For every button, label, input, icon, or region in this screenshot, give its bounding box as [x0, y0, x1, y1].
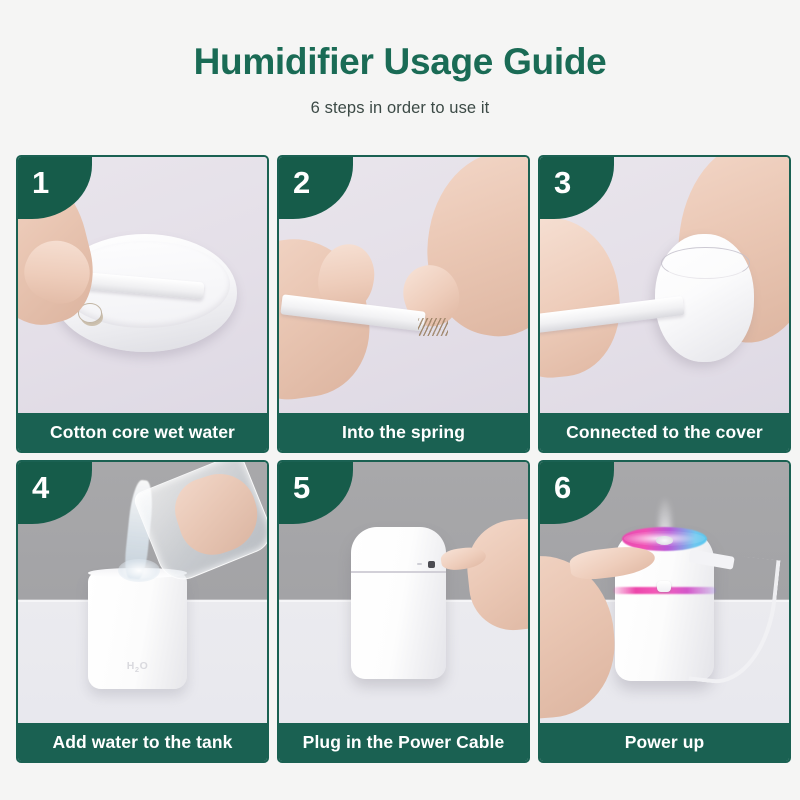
step-photo-3: 3	[540, 157, 789, 413]
mist-nozzle	[656, 536, 674, 545]
step-caption-3: Connected to the cover	[540, 413, 789, 451]
tank-h2o-label: H2O	[88, 660, 188, 674]
step-photo-4: H2O 4	[18, 462, 267, 723]
step-number-2: 2	[279, 157, 310, 198]
spring-coil	[418, 318, 448, 336]
humidifier-body	[351, 527, 446, 678]
step-caption-1: Cotton core wet water	[18, 413, 267, 451]
step-number-4: 4	[18, 462, 49, 503]
step-number-1: 1	[18, 157, 49, 198]
power-button[interactable]	[657, 581, 672, 592]
step-card-4[interactable]: H2O 4 Add water to the tank	[16, 460, 269, 763]
step-card-2[interactable]: 2 Into the spring	[277, 155, 530, 453]
step-card-5[interactable]: 5 Plug in the Power Cable	[277, 460, 530, 763]
header: Humidifier Usage Guide 6 steps in order …	[0, 0, 800, 118]
step-caption-4: Add water to the tank	[18, 723, 267, 761]
step-photo-6: 6	[540, 462, 789, 723]
step-number-6: 6	[540, 462, 571, 503]
infographic-page: Humidifier Usage Guide 6 steps in order …	[0, 0, 800, 800]
step-card-1[interactable]: 1 Cotton core wet water	[16, 155, 269, 453]
step-number-3: 3	[540, 157, 571, 198]
step-caption-2: Into the spring	[279, 413, 528, 451]
step-photo-1: 1	[18, 157, 267, 413]
water-splash	[118, 559, 160, 582]
step-number-5: 5	[279, 462, 310, 503]
step-card-3[interactable]: 3 Connected to the cover	[538, 155, 791, 453]
step-card-6[interactable]: 6 Power up	[538, 460, 791, 763]
page-title: Humidifier Usage Guide	[0, 42, 800, 83]
step-caption-5: Plug in the Power Cable	[279, 723, 528, 761]
body-seam	[351, 571, 446, 573]
usb-port	[428, 561, 435, 569]
port-marking	[417, 563, 423, 565]
water-tank: H2O	[88, 572, 188, 689]
step-photo-5: 5	[279, 462, 528, 723]
steps-grid: 1 Cotton core wet water 2 Into the sprin…	[16, 155, 791, 763]
step-caption-6: Power up	[540, 723, 789, 761]
page-subtitle: 6 steps in order to use it	[0, 99, 800, 118]
cover-ring	[661, 247, 751, 280]
step-photo-2: 2	[279, 157, 528, 413]
